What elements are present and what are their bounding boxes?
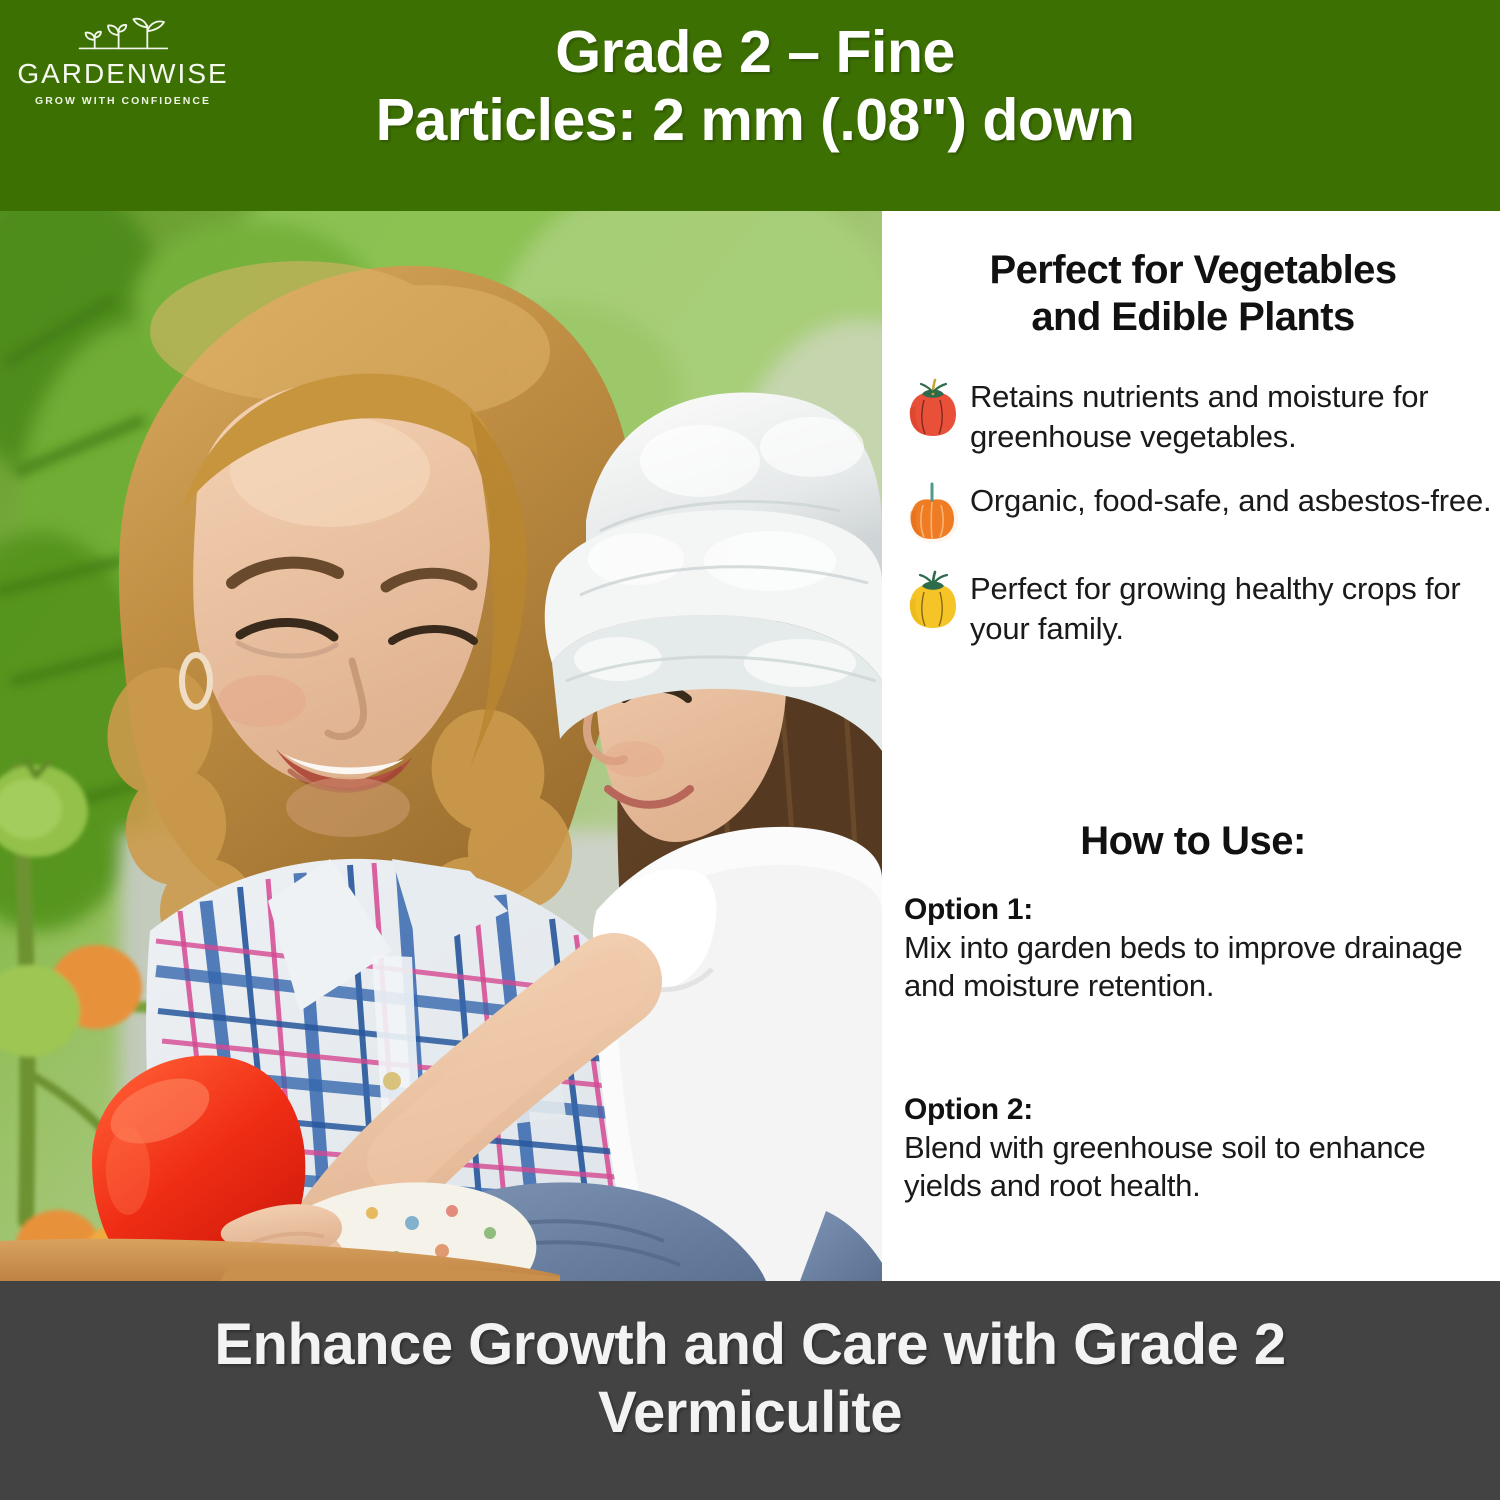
footer-headline-line1: Enhance Growth and Care with Grade 2 xyxy=(60,1311,1440,1379)
photo-illustration xyxy=(0,211,882,1281)
option-label: Option 2: xyxy=(904,1091,1492,1129)
panel-heading: Perfect for Vegetables and Edible Plants xyxy=(900,247,1486,341)
howto-heading: How to Use: xyxy=(900,819,1486,864)
product-infographic: GARDENWISE GROW WITH CONFIDENCE Grade 2 … xyxy=(0,0,1500,1500)
orange-pumpkin-icon xyxy=(904,482,962,544)
list-item: Perfect for growing healthy crops for yo… xyxy=(904,568,1492,648)
benefit-text: Organic, food-safe, and asbestos-free. xyxy=(970,480,1492,521)
option-label: Option 1: xyxy=(904,891,1492,929)
footer-headline-line2: Vermiculite xyxy=(60,1379,1440,1447)
option-body: Blend with greenhouse soil to enhance yi… xyxy=(904,1129,1492,1207)
benefits-panel: Perfect for Vegetables and Edible Plants xyxy=(882,211,1500,1281)
usage-option-1: Option 1: Mix into garden beds to improv… xyxy=(904,891,1492,1006)
panel-heading-line2: and Edible Plants xyxy=(1031,295,1354,339)
footer-banner: Enhance Growth and Care with Grade 2 Ver… xyxy=(0,1281,1500,1500)
usage-option-2: Option 2: Blend with greenhouse soil to … xyxy=(904,1091,1492,1206)
red-bell-pepper-icon xyxy=(904,378,962,440)
list-item: Retains nutrients and moisture for green… xyxy=(904,376,1492,456)
list-item: Organic, food-safe, and asbestos-free. xyxy=(904,480,1492,544)
benefit-text: Retains nutrients and moisture for green… xyxy=(970,376,1492,456)
brand-name: GARDENWISE xyxy=(8,60,238,88)
lifestyle-photo xyxy=(0,211,882,1281)
panel-heading-line1: Perfect for Vegetables xyxy=(990,248,1397,292)
benefit-list: Retains nutrients and moisture for green… xyxy=(904,376,1492,673)
brand-tagline: GROW WITH CONFIDENCE xyxy=(8,95,238,107)
brand-logo: GARDENWISE GROW WITH CONFIDENCE xyxy=(8,14,238,107)
option-body: Mix into garden beds to improve drainage… xyxy=(904,929,1492,1007)
footer-headline: Enhance Growth and Care with Grade 2 Ver… xyxy=(60,1311,1440,1448)
benefit-text: Perfect for growing healthy crops for yo… xyxy=(970,568,1492,648)
header-title: Grade 2 – Fine Particles: 2 mm (.08") do… xyxy=(250,18,1260,155)
header-title-line2: Particles: 2 mm (.08") down xyxy=(250,86,1260,154)
header-title-line1: Grade 2 – Fine xyxy=(250,18,1260,86)
header-banner: GARDENWISE GROW WITH CONFIDENCE Grade 2 … xyxy=(0,0,1500,211)
yellow-bell-pepper-icon xyxy=(904,570,962,632)
sprout-plants-icon xyxy=(66,14,181,58)
